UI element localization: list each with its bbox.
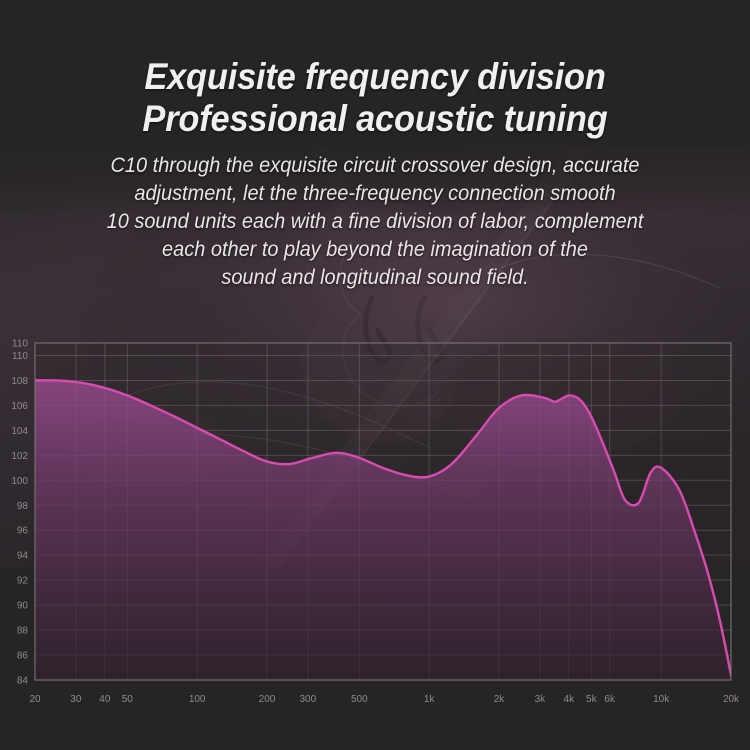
- x-axis-labels: 203040501002003005001k2k3k4k5k6k10k20k: [29, 694, 740, 705]
- x-axis-tick-label: 4k: [564, 694, 576, 705]
- y-axis-tick-label: 98: [17, 501, 29, 512]
- y-axis-tick-label: 90: [17, 601, 29, 612]
- x-axis-tick-label: 200: [259, 694, 276, 705]
- x-axis-tick-label: 100: [189, 694, 206, 705]
- y-axis-tick-label: 102: [11, 451, 28, 462]
- headline-line-2: Professional acoustic tuning: [26, 98, 724, 140]
- y-axis-tick-label: 88: [17, 626, 29, 637]
- body-paragraph: C10 through the exquisite circuit crosso…: [19, 152, 732, 292]
- x-axis-tick-label: 3k: [535, 694, 547, 705]
- x-axis-tick-label: 20k: [723, 694, 740, 705]
- chart-canvas: 1101101081061041021009896949290888684 20…: [0, 325, 750, 725]
- x-axis-tick-label: 30: [70, 694, 82, 705]
- y-axis-tick-label: 100: [11, 476, 28, 487]
- y-axis-tick-label: 108: [11, 376, 28, 387]
- promo-banner: Exquisite frequency division Professiona…: [0, 0, 750, 750]
- x-axis-tick-label: 50: [122, 694, 134, 705]
- body-line-3: 10 sound units each with a fine division…: [19, 208, 732, 236]
- body-line-1: C10 through the exquisite circuit crosso…: [19, 152, 732, 180]
- y-axis-tick-label: 96: [17, 526, 29, 537]
- x-axis-tick-label: 20: [29, 694, 41, 705]
- body-line-2: adjustment, let the three-frequency conn…: [19, 180, 732, 208]
- y-axis-tick-label: 106: [11, 401, 28, 412]
- y-axis-tick-label: 94: [17, 551, 29, 562]
- y-axis-tick-label: 84: [17, 676, 29, 687]
- headline: Exquisite frequency division Professiona…: [26, 0, 724, 140]
- body-line-4: each other to play beyond the imaginatio…: [19, 236, 732, 264]
- x-axis-tick-label: 2k: [494, 694, 506, 705]
- x-axis-tick-label: 300: [300, 694, 317, 705]
- x-axis-tick-label: 500: [351, 694, 368, 705]
- frequency-response-chart: 1101101081061041021009896949290888684 20…: [0, 325, 750, 725]
- x-axis-tick-label: 6k: [604, 694, 616, 705]
- y-axis-tick-label: 110: [12, 351, 28, 362]
- y-axis-tick-label: 92: [17, 576, 29, 587]
- headline-line-1: Exquisite frequency division: [26, 0, 724, 98]
- y-axis-tick-label: 110: [12, 339, 28, 350]
- body-line-5: sound and longitudinal sound field.: [19, 264, 732, 292]
- x-axis-tick-label: 40: [99, 694, 111, 705]
- x-axis-tick-label: 5k: [586, 694, 598, 705]
- hero-copy: Exquisite frequency division Professiona…: [0, 0, 750, 292]
- x-axis-tick-label: 10k: [653, 694, 670, 705]
- y-axis-labels: 1101101081061041021009896949290888684: [11, 339, 28, 687]
- y-axis-tick-label: 104: [11, 426, 28, 437]
- x-axis-tick-label: 1k: [424, 694, 436, 705]
- y-axis-tick-label: 86: [17, 651, 29, 662]
